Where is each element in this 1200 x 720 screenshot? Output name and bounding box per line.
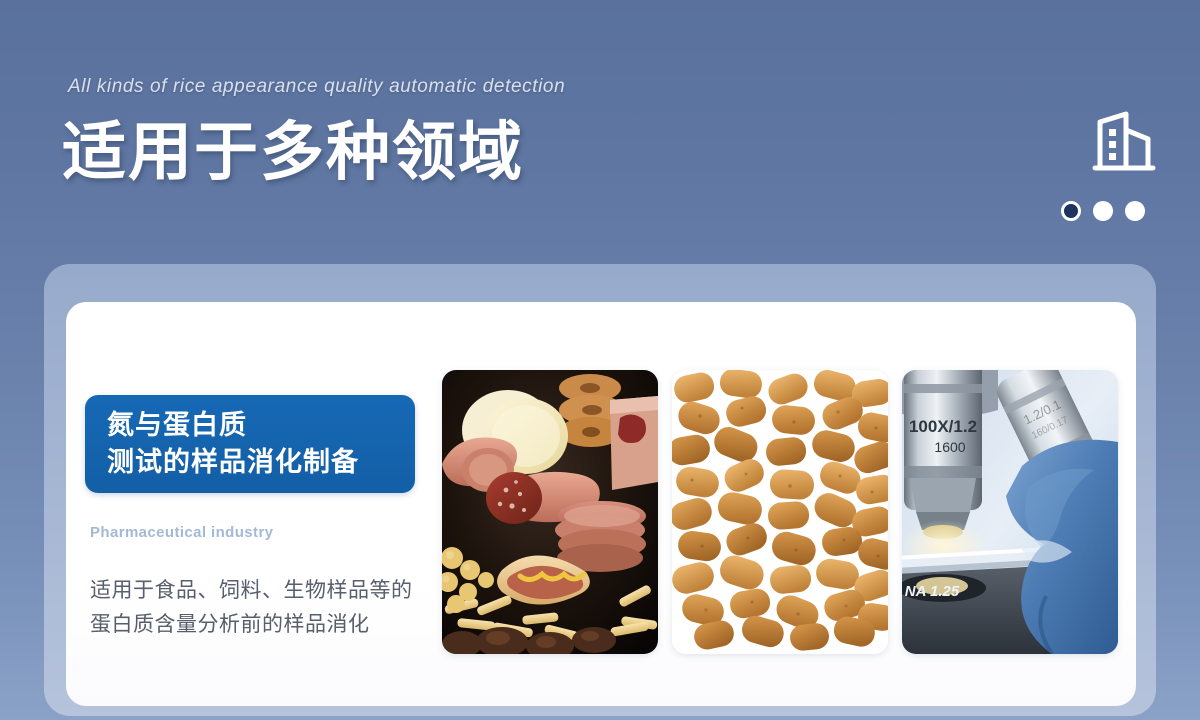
category-badge: 氮与蛋白质 测试的样品消化制备 — [85, 395, 415, 493]
photo-microscope: 1.2/0.1 160/0.17 100X/1.2 1600 NA 1.2 — [902, 370, 1118, 654]
carousel-pagination[interactable] — [1061, 201, 1155, 223]
objective-label: 100X/1.2 — [909, 417, 977, 436]
hero-subtitle: All kinds of rice appearance quality aut… — [68, 76, 565, 98]
category-badge-line-2: 测试的样品消化制备 — [107, 444, 393, 481]
page-title: 适用于多种领域 — [62, 118, 524, 187]
industry-description: 适用于食品、饲料、生物样品等的蛋白质含量分析前的样品消化 — [90, 574, 430, 642]
tube-label: 1600 — [934, 439, 965, 455]
photo-animal-feed — [672, 370, 888, 654]
photo-processed-food — [442, 370, 658, 654]
carousel-dot-1[interactable] — [1061, 201, 1081, 221]
carousel-dot-3[interactable] — [1125, 201, 1145, 221]
building-icon — [1091, 110, 1157, 176]
category-badge-line-1: 氮与蛋白质 — [107, 407, 393, 444]
hero-banner: All kinds of rice appearance quality aut… — [0, 0, 1200, 262]
industry-eyebrow: Pharmaceutical industry — [90, 524, 273, 541]
carousel-dot-2[interactable] — [1093, 201, 1113, 221]
aperture-label: NA 1.25 — [905, 583, 960, 600]
